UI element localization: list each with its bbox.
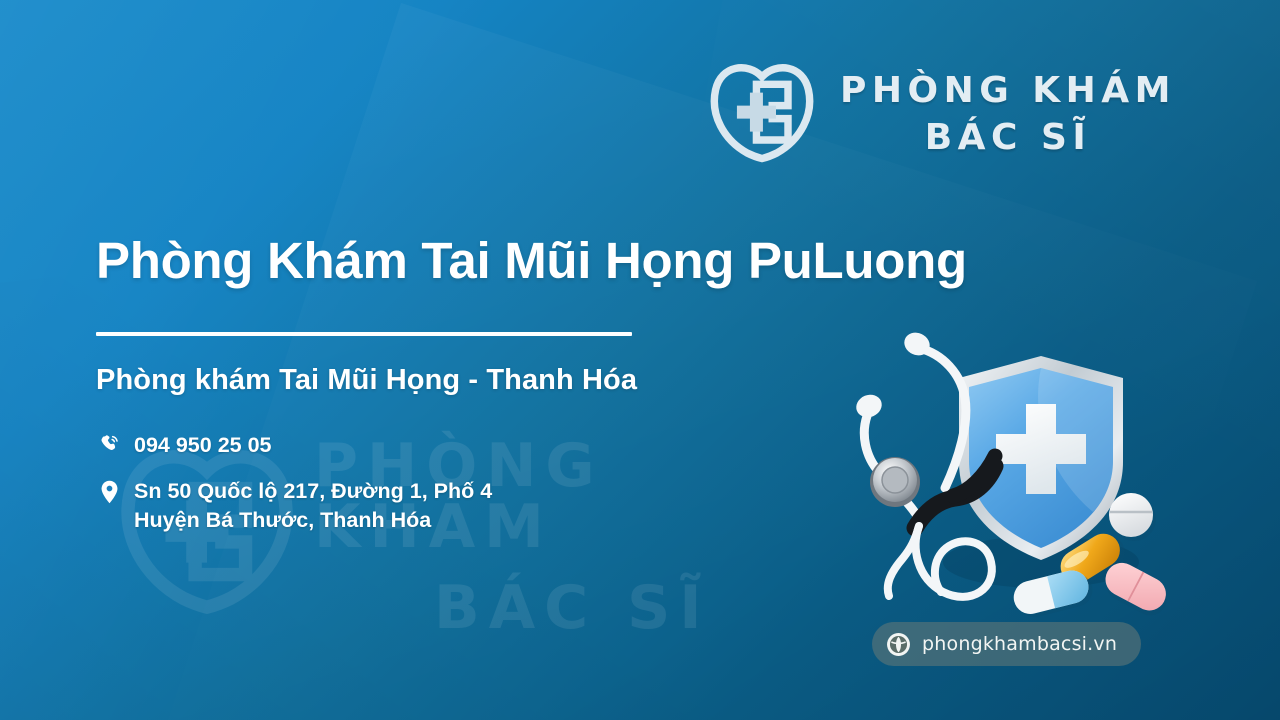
medical-cross-heart-logo-icon xyxy=(706,62,818,166)
website-url: phongkhambacsi.vn xyxy=(922,633,1117,655)
page-title: Phòng Khám Tai Mũi Họng PuLuong xyxy=(96,232,856,289)
address-line-1: Sn 50 Quốc lộ 217, Đường 1, Phố 4 xyxy=(134,479,492,503)
address: Sn 50 Quốc lộ 217, Đường 1, Phố 4 Huyện … xyxy=(134,477,492,536)
phone-number: 094 950 25 05 xyxy=(134,431,272,461)
subtitle: Phòng khám Tai Mũi Họng - Thanh Hóa xyxy=(96,364,856,397)
map-pin-icon xyxy=(96,477,122,504)
address-line-2: Huyện Bá Thước, Thanh Hóa xyxy=(134,506,492,536)
medical-illustration xyxy=(845,330,1185,630)
brand-line2: BÁC SĨ xyxy=(840,120,1176,156)
brand-line1: PHÒNG KHÁM xyxy=(840,73,1176,109)
brand-logo: PHÒNG KHÁM BÁC SĨ xyxy=(706,62,1176,166)
website-badge[interactable]: phongkhambacsi.vn xyxy=(872,622,1141,666)
globe-icon xyxy=(886,632,911,657)
contact-list: 094 950 25 05 Sn 50 Quốc lộ 217, Đường 1… xyxy=(96,431,856,536)
content-block: Phòng Khám Tai Mũi Họng PuLuong Phòng kh… xyxy=(96,232,856,552)
brand-text: PHÒNG KHÁM BÁC SĨ xyxy=(840,73,1176,156)
shield-icon xyxy=(959,356,1123,560)
phone-call-icon xyxy=(96,431,122,455)
clinic-banner: PHÒNG KHÁM BÁC SĨ PHÒNG KHÁM BÁC SĨ Phòn… xyxy=(0,0,1280,720)
stethoscope-chestpiece xyxy=(870,457,920,507)
contact-row-address: Sn 50 Quốc lộ 217, Đường 1, Phố 4 Huyện … xyxy=(96,477,856,536)
watermark-line2: BÁC SĨ xyxy=(434,578,834,639)
title-divider xyxy=(96,332,632,336)
contact-row-phone: 094 950 25 05 xyxy=(96,431,856,461)
stethoscope-eartips xyxy=(853,330,934,421)
white-round-tablet xyxy=(1109,493,1156,541)
